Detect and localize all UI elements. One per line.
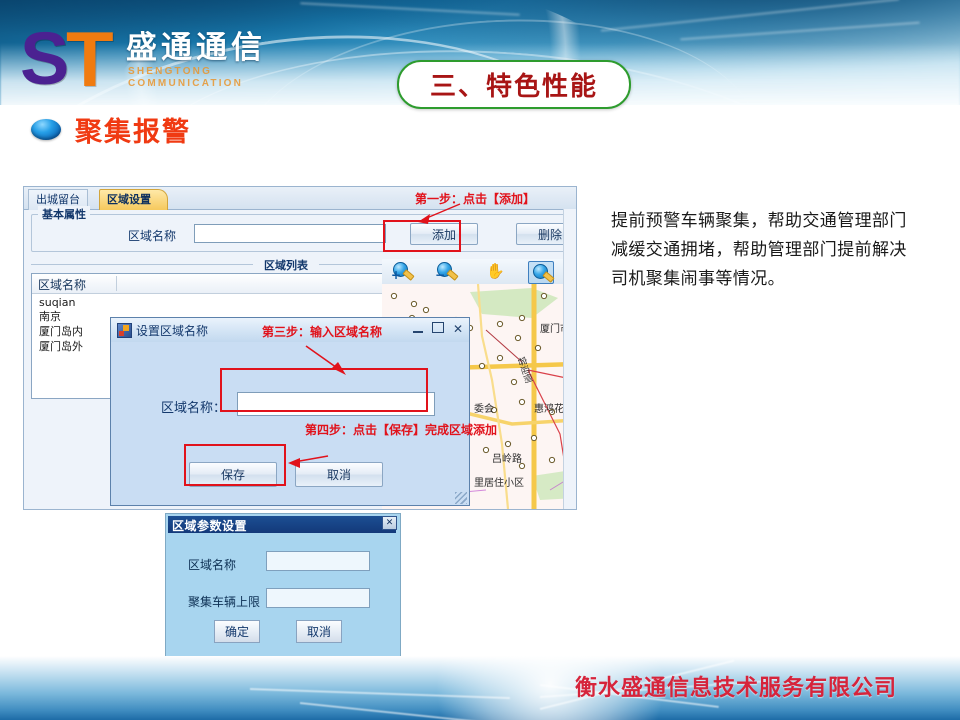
arrow-to-add-button: [404, 200, 464, 226]
window-scrollbar[interactable]: [563, 209, 576, 509]
svg-text:吕岭路: 吕岭路: [492, 452, 522, 465]
blue-orb-bullet-icon: [31, 119, 61, 140]
column-separator: [116, 276, 117, 291]
annotation-step-4: 第四步：点击【保存】完成区域添加: [305, 421, 497, 438]
list-item[interactable]: 厦门岛外: [39, 339, 83, 354]
window-controls: ✕: [413, 322, 463, 335]
ok-button[interactable]: 确定: [214, 620, 260, 643]
params-vehicle-limit-input[interactable]: [266, 588, 370, 608]
arrow-to-name-input: [302, 344, 352, 378]
svg-text:里居住小区: 里居住小区: [474, 476, 524, 489]
resize-grip-icon[interactable]: [455, 492, 467, 504]
company-logo: S T 盛通通信 SHENGTONG COMMUNICATION: [14, 16, 314, 90]
region-parameters-dialog: 区域参数设置 ✕ 区域名称 聚集车辆上限 确定 取消: [165, 513, 401, 672]
region-name-input[interactable]: [194, 224, 386, 243]
highlight-save-button: [184, 444, 286, 486]
zoom-out-icon[interactable]: −: [434, 261, 458, 282]
section-heading: 聚集报警: [31, 110, 191, 149]
column-header-region-name: 区域名称: [38, 276, 86, 293]
minimize-icon[interactable]: [413, 323, 423, 335]
logo-letter-t: T: [66, 20, 114, 98]
logo-company-name-cn: 盛通通信: [126, 30, 266, 66]
maximize-icon[interactable]: [432, 322, 444, 335]
tab-region-settings[interactable]: 区域设置: [99, 189, 168, 210]
map-toolbar: + − ✋: [382, 259, 576, 285]
region-list-label: 区域列表: [259, 257, 313, 273]
form-window-icon: [117, 323, 132, 338]
params-dialog-title: 区域参数设置: [172, 517, 247, 534]
list-item[interactable]: suqian: [39, 295, 75, 310]
params-vehicle-limit-label: 聚集车辆上限: [188, 593, 260, 610]
footer-company-name: 衡水盛通信息技术服务有限公司: [575, 670, 897, 702]
params-dialog-titlebar[interactable]: 区域参数设置: [168, 516, 396, 533]
params-region-name-label: 区域名称: [188, 556, 236, 573]
dialog-title: 设置区域名称: [136, 322, 208, 339]
arrow-to-save-button: [276, 450, 332, 470]
footer-banner: 衡水盛通信息技术服务有限公司: [0, 656, 960, 720]
section-title-text: 三、特色性能: [430, 66, 598, 103]
divider-left: [31, 264, 253, 265]
svg-text:委会: 委会: [474, 402, 494, 415]
section-heading-text: 聚集报警: [75, 110, 191, 149]
close-icon[interactable]: ✕: [453, 323, 463, 335]
annotation-step-3: 第三步：输入区域名称: [262, 323, 382, 340]
close-icon[interactable]: ✕: [382, 516, 397, 530]
basic-properties-legend: 基本属性: [38, 206, 90, 222]
params-region-name-input[interactable]: [266, 551, 370, 571]
region-name-label: 区域名称: [128, 227, 176, 244]
logo-company-name-en: SHENGTONG COMMUNICATION: [128, 66, 314, 90]
zoom-in-icon[interactable]: +: [390, 261, 414, 282]
logo-letter-s: S: [20, 22, 69, 96]
pan-hand-icon[interactable]: ✋: [482, 261, 506, 282]
feature-description: 提前预警车辆聚集，帮助交通管理部门减缓交通拥堵，帮助管理部门提前解决司机聚集闹事…: [611, 207, 917, 294]
slide-root: S T 盛通通信 SHENGTONG COMMUNICATION 三、特色性能 …: [0, 0, 960, 720]
section-title-badge: 三、特色性能: [397, 60, 631, 109]
list-item[interactable]: 南京: [39, 309, 61, 324]
dialog-region-name-label: 区域名称：: [161, 397, 226, 416]
cancel-button[interactable]: 取消: [296, 620, 342, 643]
select-rectangle-icon[interactable]: [528, 261, 554, 284]
list-item[interactable]: 厦门岛内: [39, 324, 83, 339]
